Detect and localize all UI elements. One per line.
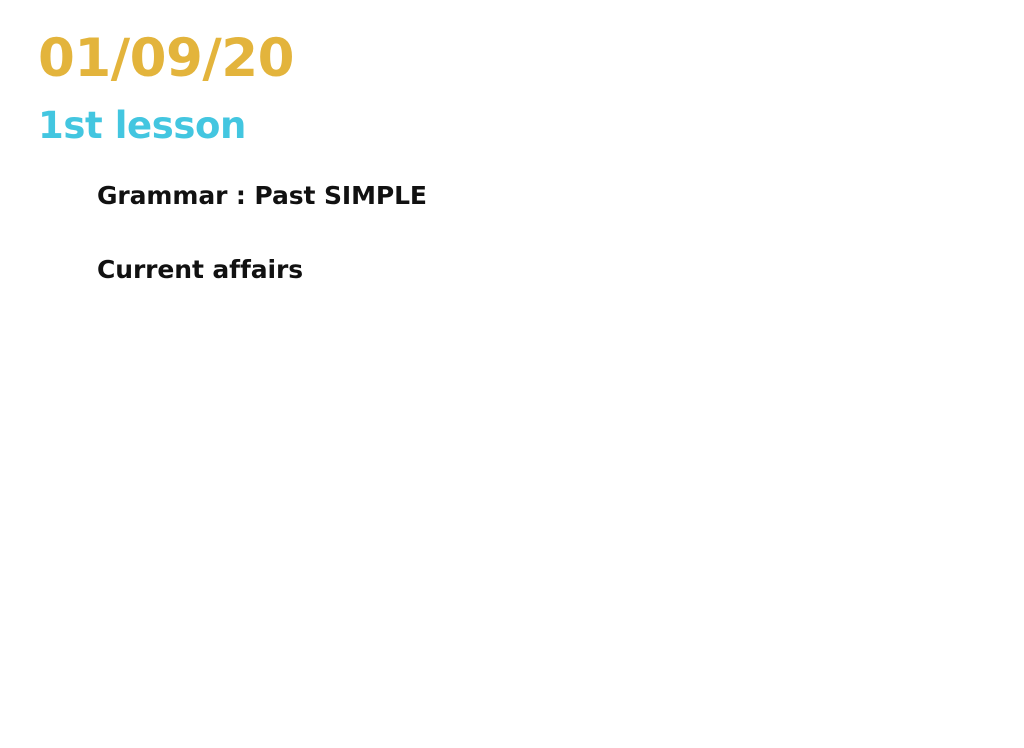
slide-subtitle: 1st lesson bbox=[38, 107, 294, 144]
slide-date: 01/09/20 bbox=[38, 32, 294, 85]
lesson-slide: 01/09/20 1st lesson Grammar : Past SIMPL… bbox=[0, 0, 1024, 748]
agenda-list: Grammar : Past SIMPLE Current affairs bbox=[97, 183, 427, 282]
agenda-item-current-affairs: Current affairs bbox=[97, 257, 427, 282]
slide-empty-content-area bbox=[0, 310, 1024, 748]
slide-heading-block: 01/09/20 1st lesson bbox=[38, 32, 294, 144]
agenda-item-grammar: Grammar : Past SIMPLE bbox=[97, 183, 427, 208]
